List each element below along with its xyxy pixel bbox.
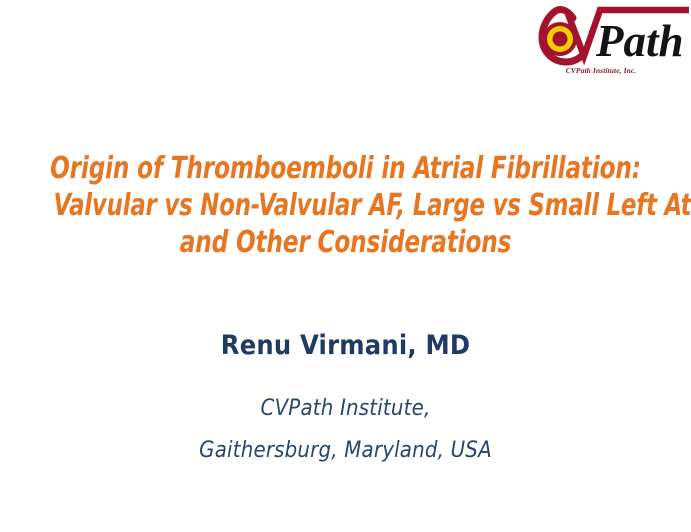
page-title: Origin of Thromboemboli in Atrial Fibril…	[0, 150, 691, 261]
presentation-title-slide: Path CVPath Institute, Inc. Origin of Th…	[0, 0, 691, 532]
title-line-3: and Other Considerations	[48, 224, 642, 261]
affiliation-line-1: CVPath Institute,	[0, 388, 691, 430]
author-affiliation: CVPath Institute, Gaithersburg, Maryland…	[0, 388, 691, 472]
affiliation-line-2: Gaithersburg, Maryland, USA	[0, 430, 691, 472]
logo-path-wordmark: Path	[595, 16, 684, 66]
cvpath-logo-mark: Path	[526, 4, 691, 68]
title-line-2: Valvular vs Non-Valvular AF, Large vs Sm…	[54, 187, 638, 224]
author-name: Renu Virmani, MD	[0, 330, 691, 361]
logo-tagline: CVPath Institute, Inc.	[526, 66, 676, 75]
cvpath-logo: Path CVPath Institute, Inc.	[526, 4, 691, 88]
title-line-1: Origin of Thromboemboli in Atrial Fibril…	[48, 150, 642, 187]
